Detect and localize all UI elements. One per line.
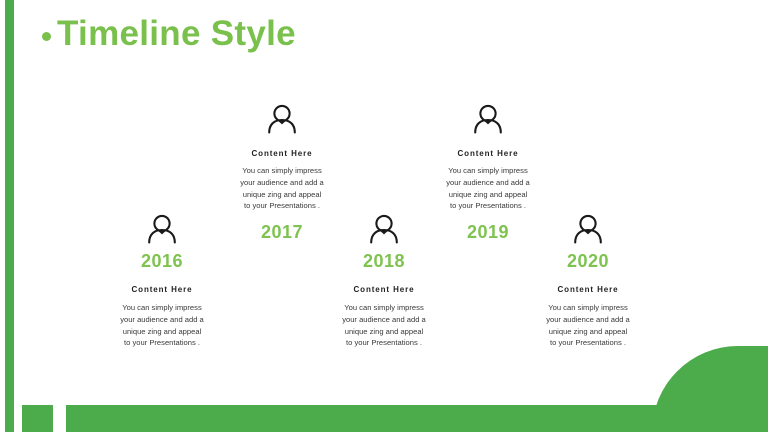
slide-canvas: Timeline Style 2016 Content Here You can… [0, 0, 768, 432]
timeline-body: You can simply impress your audience and… [86, 302, 238, 349]
timeline-body: You can simply impress your audience and… [206, 165, 358, 212]
person-icon [206, 104, 358, 139]
left-accent-bar [5, 0, 14, 432]
timeline-body: You can simply impress your audience and… [308, 302, 460, 349]
bottom-accent-bar [66, 405, 768, 432]
timeline-year-label: 2020 [512, 251, 664, 272]
timeline-heading: Content Here [412, 149, 564, 158]
timeline-year-label: 2016 [86, 251, 238, 272]
timeline-item-2020[interactable]: 2020 Content Here You can simply impress… [512, 214, 664, 349]
timeline-body: You can simply impress your audience and… [412, 165, 564, 212]
timeline-year-label: 2019 [467, 222, 509, 242]
timeline-track: 2016 Content Here You can simply impress… [86, 104, 726, 360]
timeline-year-label: 2017 [261, 222, 303, 242]
timeline-heading: Content Here [308, 285, 460, 294]
person-icon [512, 214, 664, 249]
timeline-year-label: 2018 [308, 251, 460, 272]
person-icon [412, 104, 564, 139]
timeline-heading: Content Here [206, 149, 358, 158]
timeline-heading: Content Here [512, 285, 664, 294]
title-bullet-icon [42, 32, 51, 41]
page-title: Timeline Style [42, 16, 296, 51]
bottom-left-accent-square [22, 405, 53, 432]
timeline-body: You can simply impress your audience and… [512, 302, 664, 349]
timeline-heading: Content Here [86, 285, 238, 294]
page-title-text: Timeline Style [57, 16, 296, 51]
